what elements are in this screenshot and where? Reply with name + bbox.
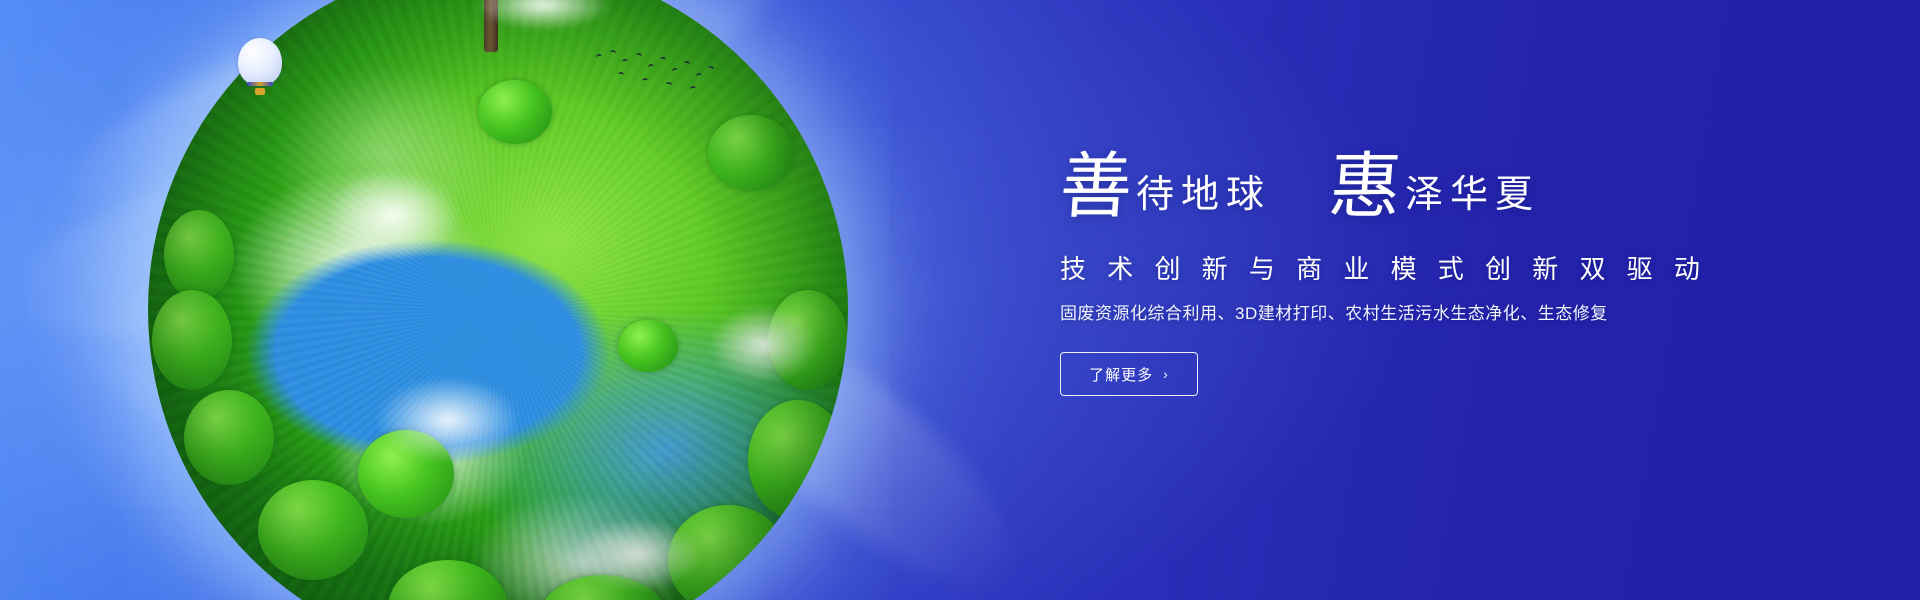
headline-lead-char-1: 善 [1058,154,1135,220]
hot-air-balloon-icon [238,38,282,96]
learn-more-button[interactable]: 了解更多 › [1060,352,1198,396]
learn-more-label: 了解更多 [1089,364,1153,385]
balloon-envelope [238,38,282,86]
hero-banner: 善 待地球 惠 泽华夏 技 术 创 新 与 商 业 模 式 创 新 双 驱 动 … [0,0,1920,600]
hero-subtitle: 技 术 创 新 与 商 业 模 式 创 新 双 驱 动 [1060,256,1720,282]
foliage-blob [618,320,678,372]
bird-flock-icon [592,48,722,92]
balloon-band [247,82,273,86]
foliage-blob [708,115,794,191]
chevron-right-icon: › [1163,366,1169,382]
headline-rest-2: 泽华夏 [1405,176,1540,220]
headline-lead-char-2: 惠 [1327,154,1404,220]
balloon-basket [255,88,265,95]
hero-headline: 善 待地球 惠 泽华夏 [1060,132,1720,220]
hero-copy: 善 待地球 惠 泽华夏 技 术 创 新 与 商 业 模 式 创 新 双 驱 动 … [1060,132,1720,396]
hero-description: 固废资源化综合利用、3D建材打印、农村生活污水生态净化、生态修复 [1060,304,1720,324]
cloud-streak [647,260,1052,600]
foliage-blob [668,505,788,600]
headline-rest-1: 待地球 [1136,176,1271,220]
